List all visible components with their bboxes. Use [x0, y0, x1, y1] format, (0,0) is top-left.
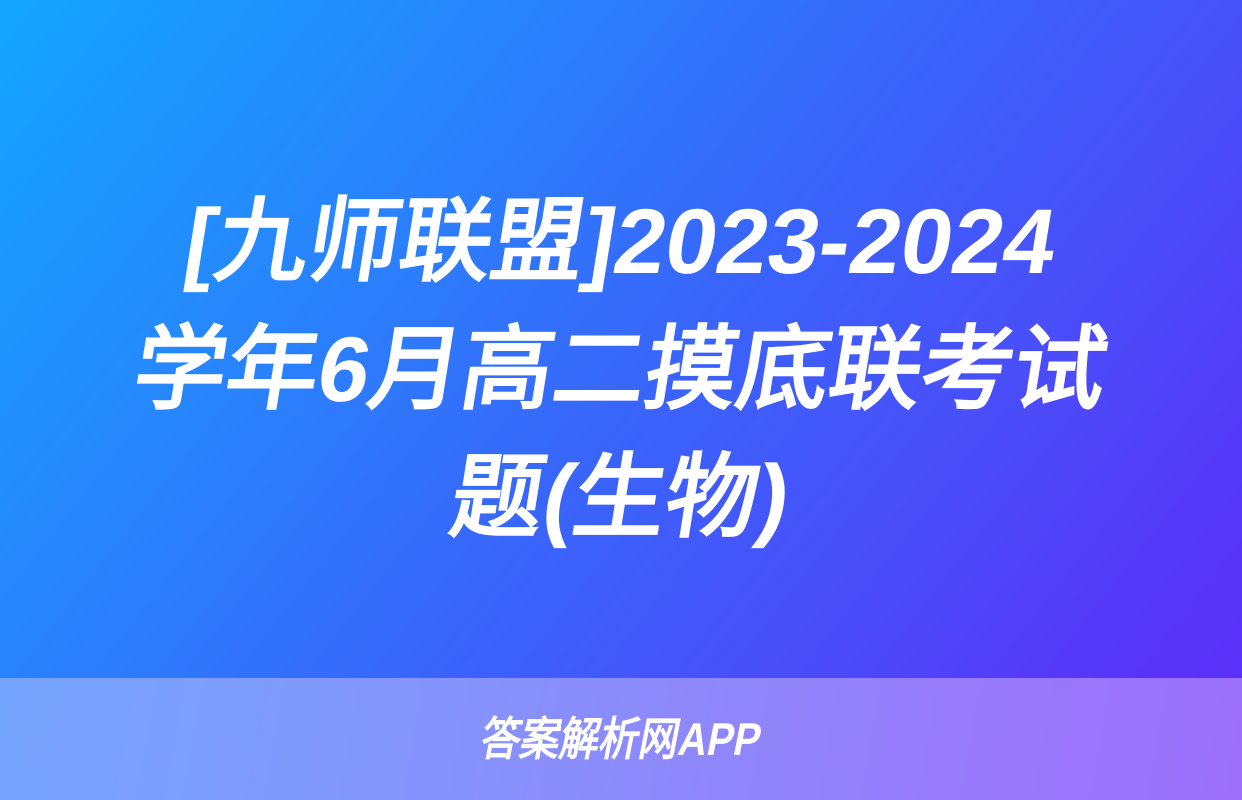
- watermark-app-label: 答案解析网APP: [477, 714, 766, 764]
- title-line-3: 题(生物): [442, 434, 800, 562]
- page-title: [九师联盟]2023-2024 学年6月高二摸底联考试 题(生物): [0, 178, 1242, 608]
- watermark-banner: 答案解析网APP: [0, 678, 1242, 800]
- title-line-1: [九师联盟]2023-2024: [176, 178, 1066, 306]
- title-line-2: 学年6月高二摸底联考试: [125, 306, 1116, 434]
- exam-paper-thumbnail-card: [九师联盟]2023-2024 学年6月高二摸底联考试 题(生物) 答案解析网A…: [0, 0, 1242, 800]
